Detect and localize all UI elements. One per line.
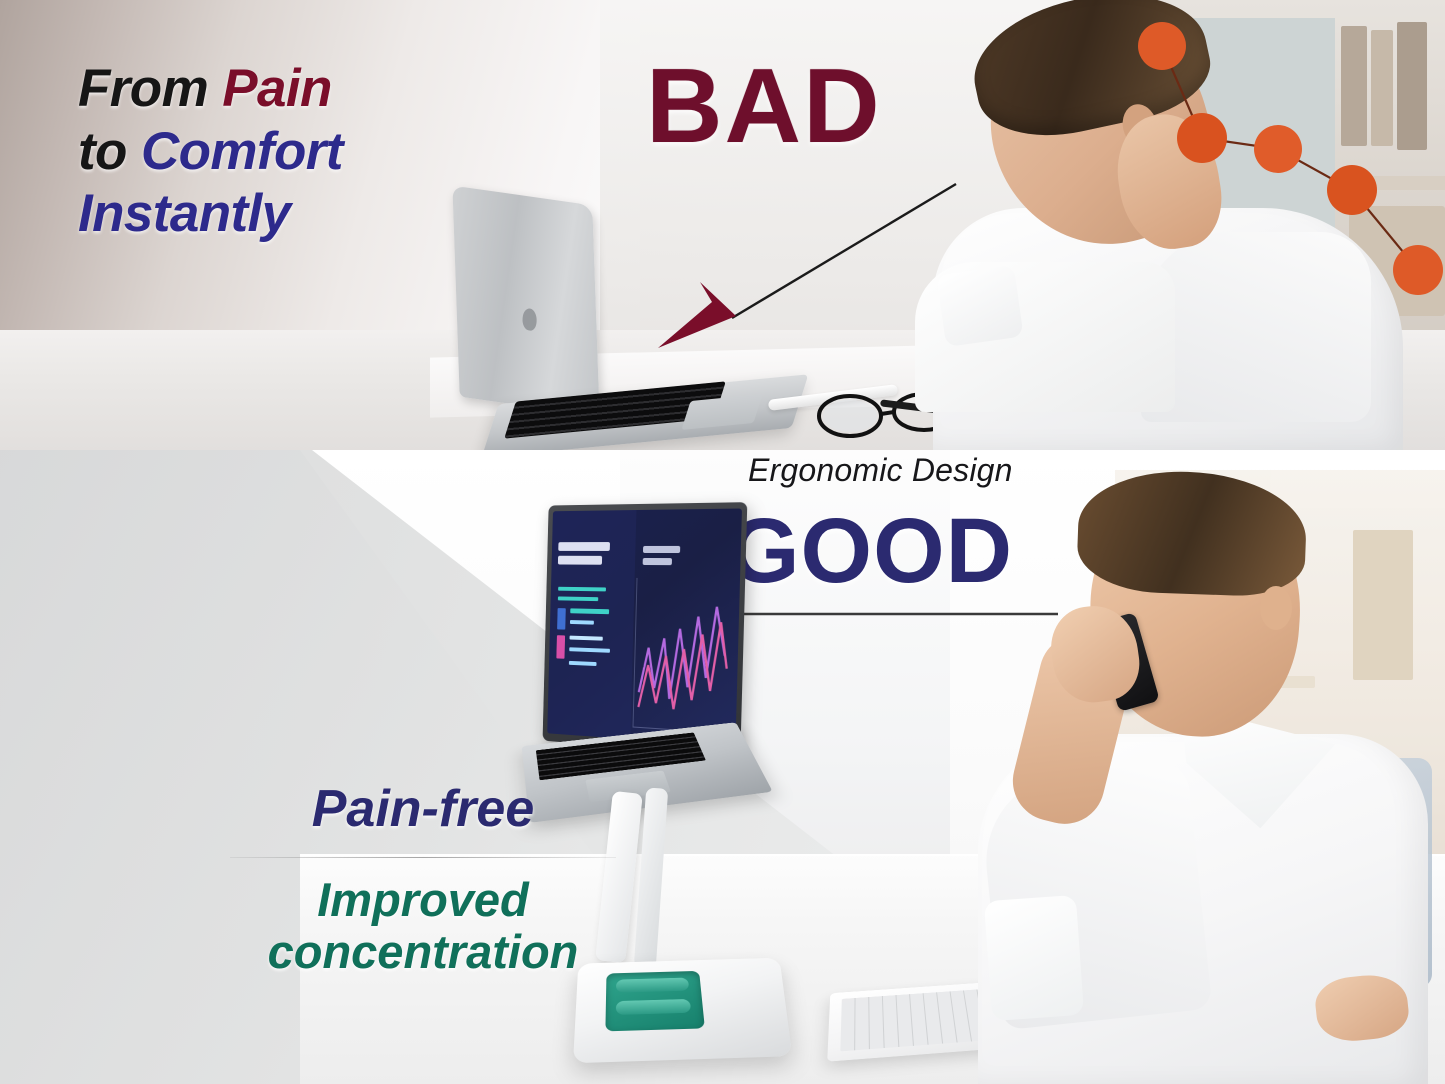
pain-point-markers (1130, 18, 1445, 308)
ear (1260, 586, 1292, 630)
pain-marker-5 (1393, 245, 1443, 295)
poster-headline: From Pain to Comfort Instantly (78, 58, 508, 246)
dashboard-line-chart (633, 578, 734, 734)
benefit-claim-block: Pain-free Improved concentration (228, 782, 618, 979)
benefit-pain-free: Pain-free (228, 782, 618, 837)
flat-laptop-bad (450, 196, 810, 446)
laptop-logo-icon (522, 307, 538, 332)
screen-glass (547, 508, 742, 746)
headline-word-comfort: Comfort (141, 122, 343, 181)
pain-marker-2 (1177, 113, 1227, 163)
shirt-cuff (984, 895, 1084, 1021)
laptop-lid (452, 186, 599, 417)
dashboard-bar-3 (557, 608, 566, 630)
pain-marker-3 (1254, 125, 1302, 173)
benefit-concentration: concentration (228, 926, 618, 979)
headline-line1-plain: From (78, 59, 222, 118)
dashboard-bar-5 (570, 620, 594, 625)
shirt-cuff (936, 265, 1023, 347)
top-panel-bad-posture: From Pain to Comfort Instantly BAD (0, 0, 1445, 450)
headline-word-pain: Pain (222, 59, 332, 118)
dashboard-subtitle-line-2 (643, 558, 672, 565)
product-poster: From Pain to Comfort Instantly BAD (0, 0, 1445, 1084)
verdict-bad-label: BAD (646, 53, 882, 159)
dashboard-bar-4 (570, 608, 609, 614)
dashboard-subtitle-line-1 (643, 546, 680, 553)
dashboard-bar-6 (556, 635, 565, 659)
laptop-screen (543, 502, 748, 755)
stand-grip-pad (605, 971, 705, 1032)
dashboard-title-line-1 (558, 542, 610, 551)
pain-marker-4 (1327, 165, 1377, 215)
dashboard-bar-1 (558, 587, 606, 592)
person-good-posture (960, 468, 1445, 1084)
benefit-improved: Improved (228, 874, 618, 927)
benefit-divider (230, 857, 616, 858)
pain-marker-1 (1138, 22, 1186, 70)
headline-word-instantly: Instantly (78, 183, 508, 246)
dashboard-title-line-2 (558, 556, 602, 565)
headline-line2-plain: to (78, 122, 141, 181)
hair (1076, 468, 1308, 598)
dashboard-bar-2 (558, 596, 598, 601)
